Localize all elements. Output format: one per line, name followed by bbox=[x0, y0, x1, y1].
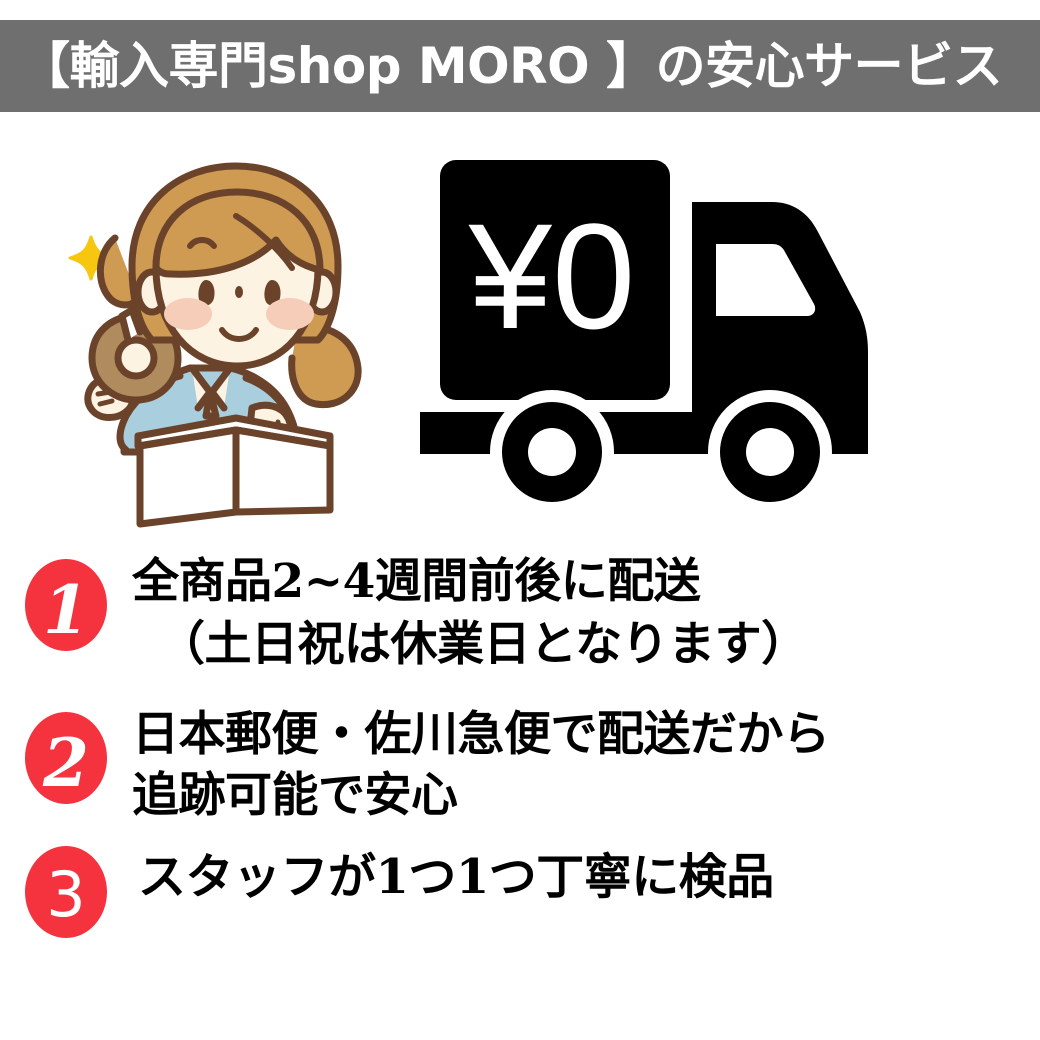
feature-list: 1 全商品2~4週間前後に配送 （土日祝は休業日となります） 2 日本郵便・佐川… bbox=[0, 545, 1040, 948]
free-shipping-truck-illustration: ¥0 bbox=[420, 140, 940, 530]
number-badge-3: 3 bbox=[25, 846, 107, 938]
feature-line: （土日祝は休業日となります） bbox=[132, 614, 1040, 677]
badge-wrap-1: 1 bbox=[0, 545, 132, 651]
badge-number-2: 2 bbox=[42, 724, 89, 802]
badge-wrap-3: 3 bbox=[0, 840, 132, 938]
feature-line: 全商品2~4週間前後に配送 bbox=[132, 551, 1040, 614]
feature-item-3: 3 スタッフが1つ1つ丁寧に検品 bbox=[0, 840, 1040, 938]
number-badge-1: 1 bbox=[25, 559, 107, 651]
badge-wrap-2: 2 bbox=[0, 698, 132, 804]
staff-woman-illustration bbox=[40, 140, 430, 530]
staff-woman-icon bbox=[40, 140, 430, 530]
badge-number-3: 3 bbox=[46, 858, 85, 931]
delivery-truck-icon: ¥0 bbox=[420, 140, 940, 530]
feature-text-3: スタッフが1つ1つ丁寧に検品 bbox=[132, 840, 1040, 910]
page-title: 【輸入専門shop MORO 】の安心サービス bbox=[0, 41, 1002, 91]
truck-price-label: ¥0 bbox=[468, 192, 636, 360]
feature-text-1: 全商品2~4週間前後に配送 （土日祝は休業日となります） bbox=[132, 545, 1040, 676]
number-badge-2: 2 bbox=[25, 712, 107, 804]
feature-line: 追跡可能で安心 bbox=[132, 765, 1040, 826]
illustration-band: ¥0 bbox=[0, 120, 1040, 540]
feature-item-2: 2 日本郵便・佐川急便で配送だから 追跡可能で安心 bbox=[0, 698, 1040, 826]
badge-number-1: 1 bbox=[43, 571, 89, 649]
header-banner: 【輸入専門shop MORO 】の安心サービス bbox=[0, 20, 1040, 112]
feature-item-1: 1 全商品2~4週間前後に配送 （土日祝は休業日となります） bbox=[0, 545, 1040, 676]
feature-line: 日本郵便・佐川急便で配送だから bbox=[132, 704, 1040, 765]
feature-line: スタッフが1つ1つ丁寧に検品 bbox=[138, 846, 1040, 910]
feature-text-2: 日本郵便・佐川急便で配送だから 追跡可能で安心 bbox=[132, 698, 1040, 826]
